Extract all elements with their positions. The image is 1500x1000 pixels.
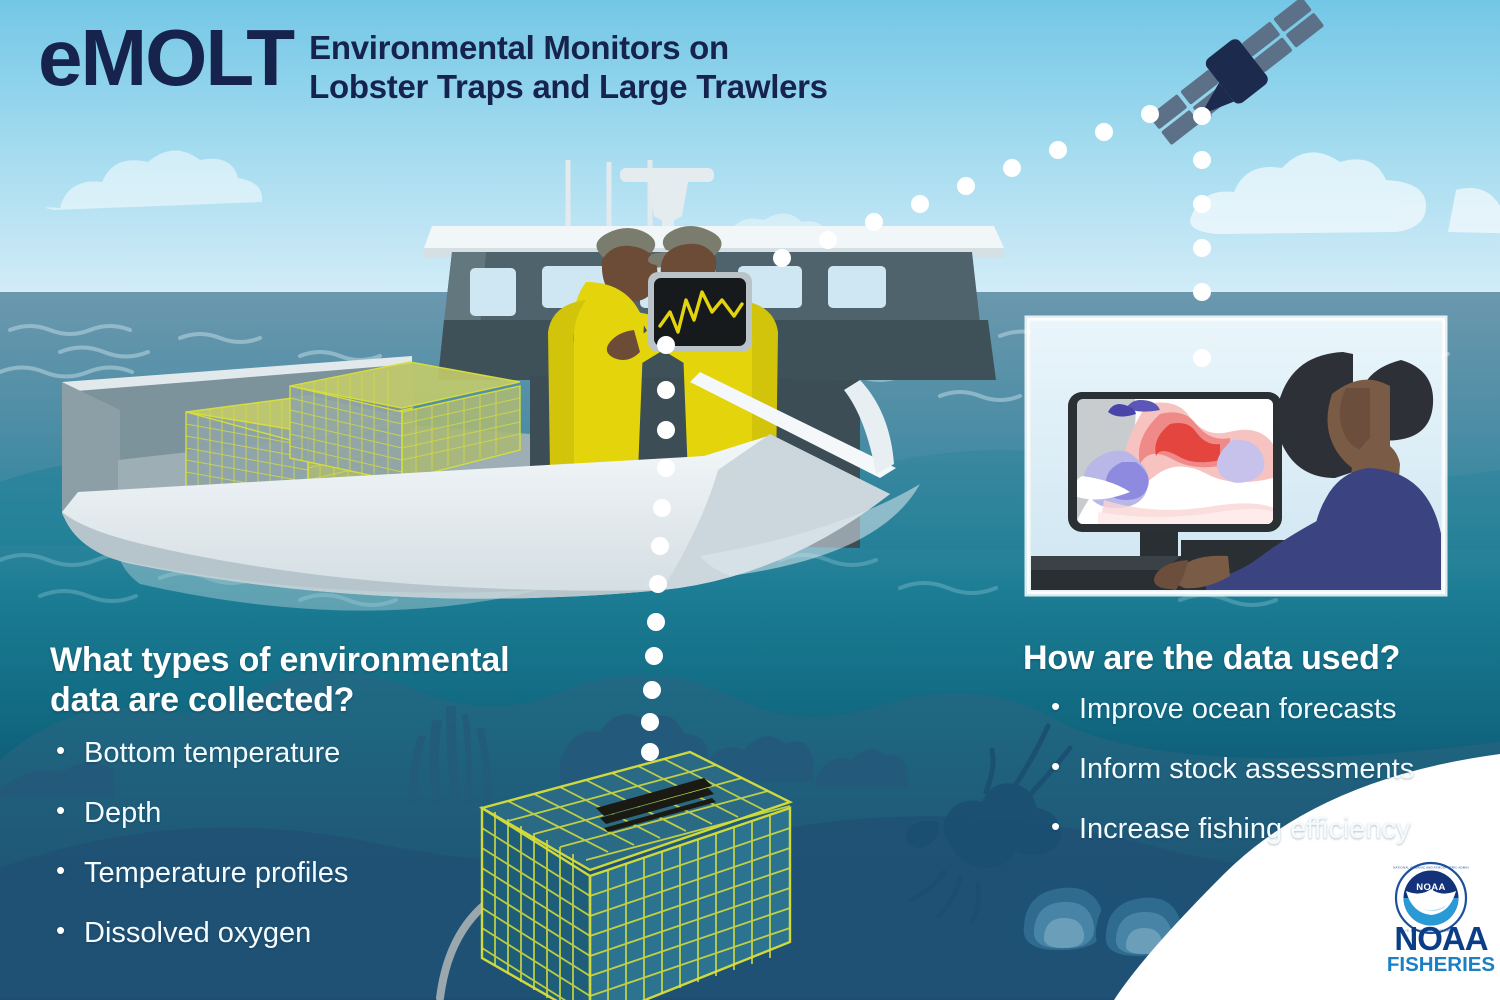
noaa-wordmark-primary: NOAA	[1386, 923, 1496, 954]
left-answer-list: Bottom temperature Depth Temperature pro…	[50, 738, 630, 950]
sst-anomaly-map	[1070, 399, 1275, 524]
title-subtitle: Environmental Monitors onLobster Traps a…	[309, 29, 828, 107]
emolt-logo-text: eMOLT	[38, 20, 293, 96]
list-item: Temperature profiles	[50, 858, 630, 890]
list-item: Inform stock assessments	[1045, 754, 1473, 786]
scientist-panel	[1027, 318, 1445, 598]
list-item: Bottom temperature	[50, 738, 630, 770]
noaa-fisheries-wordmark: NOAA FISHERIES	[1386, 923, 1496, 976]
subtitle-line-2: Lobster Traps and Large Trawlers	[309, 68, 828, 105]
svg-text:NOAA: NOAA	[1416, 882, 1446, 893]
page-title: eMOLTEnvironmental Monitors onLobster Tr…	[38, 20, 1018, 107]
rain-jacket	[573, 282, 644, 472]
list-item: Increase fishing efficiency	[1045, 814, 1473, 846]
left-heading-line-1: What types of environmental	[50, 641, 509, 679]
right-question-block: How are the data used? Improve ocean for…	[1023, 638, 1473, 874]
right-answer-list: Improve ocean forecasts Inform stock ass…	[1023, 694, 1473, 846]
noaa-wordmark-secondary: FISHERIES	[1386, 955, 1496, 976]
infographic-canvas: NOAA NATIONAL OCEANIC AND ATMOSPHERIC AD…	[0, 0, 1500, 1000]
list-item: Improve ocean forecasts	[1045, 694, 1473, 726]
list-item: Dissolved oxygen	[50, 918, 630, 950]
list-item: Depth	[50, 798, 630, 830]
left-question-block: What types of environmental data are col…	[50, 640, 630, 978]
right-question-heading: How are the data used?	[1023, 638, 1473, 678]
subtitle-line-1: Environmental Monitors on	[309, 29, 729, 66]
left-heading-line-2: data are collected?	[50, 681, 354, 719]
left-question-heading: What types of environmental data are col…	[50, 640, 630, 720]
